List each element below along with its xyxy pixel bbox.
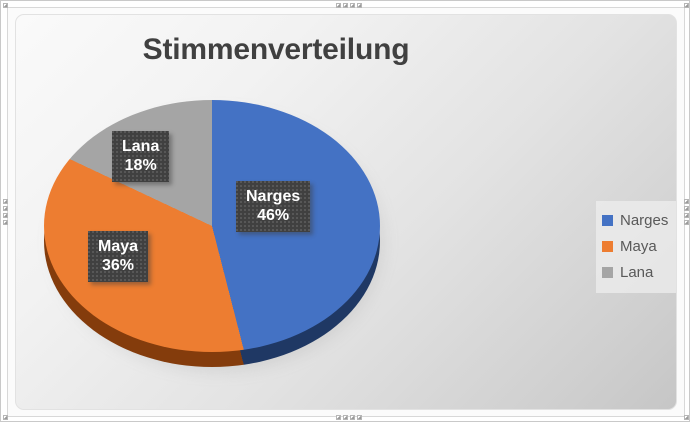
resize-handle-dot[interactable] bbox=[343, 415, 348, 420]
resize-handle-dot[interactable] bbox=[684, 199, 689, 204]
resize-handle-middle-right[interactable] bbox=[684, 199, 689, 227]
pie-chart-graphic[interactable]: Narges 46% Maya 36% Lana 18% bbox=[26, 73, 406, 403]
resize-handle-bottom-left[interactable] bbox=[3, 415, 8, 420]
resize-handle-dot[interactable] bbox=[357, 3, 362, 8]
data-label-maya[interactable]: Maya 36% bbox=[88, 231, 148, 282]
resize-handle-dot[interactable] bbox=[684, 213, 689, 218]
resize-handle-dot[interactable] bbox=[684, 206, 689, 211]
chart-object-frame[interactable]: Stimmenverteilung Narges 46% Maya 36% La… bbox=[0, 0, 690, 422]
pie-3d-top-face[interactable] bbox=[44, 100, 380, 352]
chart-title: Stimmenverteilung bbox=[16, 33, 536, 67]
resize-handle-top-center[interactable] bbox=[336, 3, 364, 8]
legend-label-maya: Maya bbox=[620, 238, 657, 255]
legend-swatch-maya-icon bbox=[602, 241, 613, 252]
resize-handle-dot[interactable] bbox=[350, 3, 355, 8]
resize-handle-dot[interactable] bbox=[3, 199, 8, 204]
resize-handle-bottom-center[interactable] bbox=[336, 415, 364, 420]
legend-label-lana: Lana bbox=[620, 264, 653, 281]
legend-item-maya[interactable]: Maya bbox=[602, 233, 677, 259]
data-label-maya-value: 36% bbox=[98, 256, 138, 275]
resize-handle-middle-left[interactable] bbox=[3, 199, 8, 227]
legend-item-narges[interactable]: Narges bbox=[602, 207, 677, 233]
legend-item-lana[interactable]: Lana bbox=[602, 259, 677, 285]
data-label-lana-value: 18% bbox=[122, 156, 159, 175]
data-label-narges[interactable]: Narges 46% bbox=[236, 181, 310, 232]
resize-handle-dot[interactable] bbox=[343, 3, 348, 8]
legend-swatch-lana-icon bbox=[602, 267, 613, 278]
data-label-narges-name: Narges bbox=[246, 187, 300, 206]
data-label-narges-value: 46% bbox=[246, 206, 300, 225]
legend-label-narges: Narges bbox=[620, 212, 668, 229]
legend-swatch-narges-icon bbox=[602, 215, 613, 226]
resize-handle-dot[interactable] bbox=[336, 3, 341, 8]
resize-handle-dot[interactable] bbox=[684, 220, 689, 225]
resize-handle-bottom-right[interactable] bbox=[684, 415, 689, 420]
resize-handle-dot[interactable] bbox=[3, 220, 8, 225]
resize-handle-dot[interactable] bbox=[350, 415, 355, 420]
data-label-maya-name: Maya bbox=[98, 237, 138, 256]
chart-plot-area[interactable]: Stimmenverteilung Narges 46% Maya 36% La… bbox=[15, 14, 677, 410]
resize-handle-dot[interactable] bbox=[3, 206, 8, 211]
resize-handle-dot[interactable] bbox=[357, 415, 362, 420]
chart-legend[interactable]: Narges Maya Lana bbox=[596, 201, 677, 293]
data-label-lana-name: Lana bbox=[122, 137, 159, 156]
data-label-lana[interactable]: Lana 18% bbox=[112, 131, 169, 182]
resize-handle-top-right[interactable] bbox=[684, 3, 689, 8]
resize-handle-dot[interactable] bbox=[336, 415, 341, 420]
resize-handle-dot[interactable] bbox=[3, 213, 8, 218]
resize-handle-top-left[interactable] bbox=[3, 3, 8, 8]
